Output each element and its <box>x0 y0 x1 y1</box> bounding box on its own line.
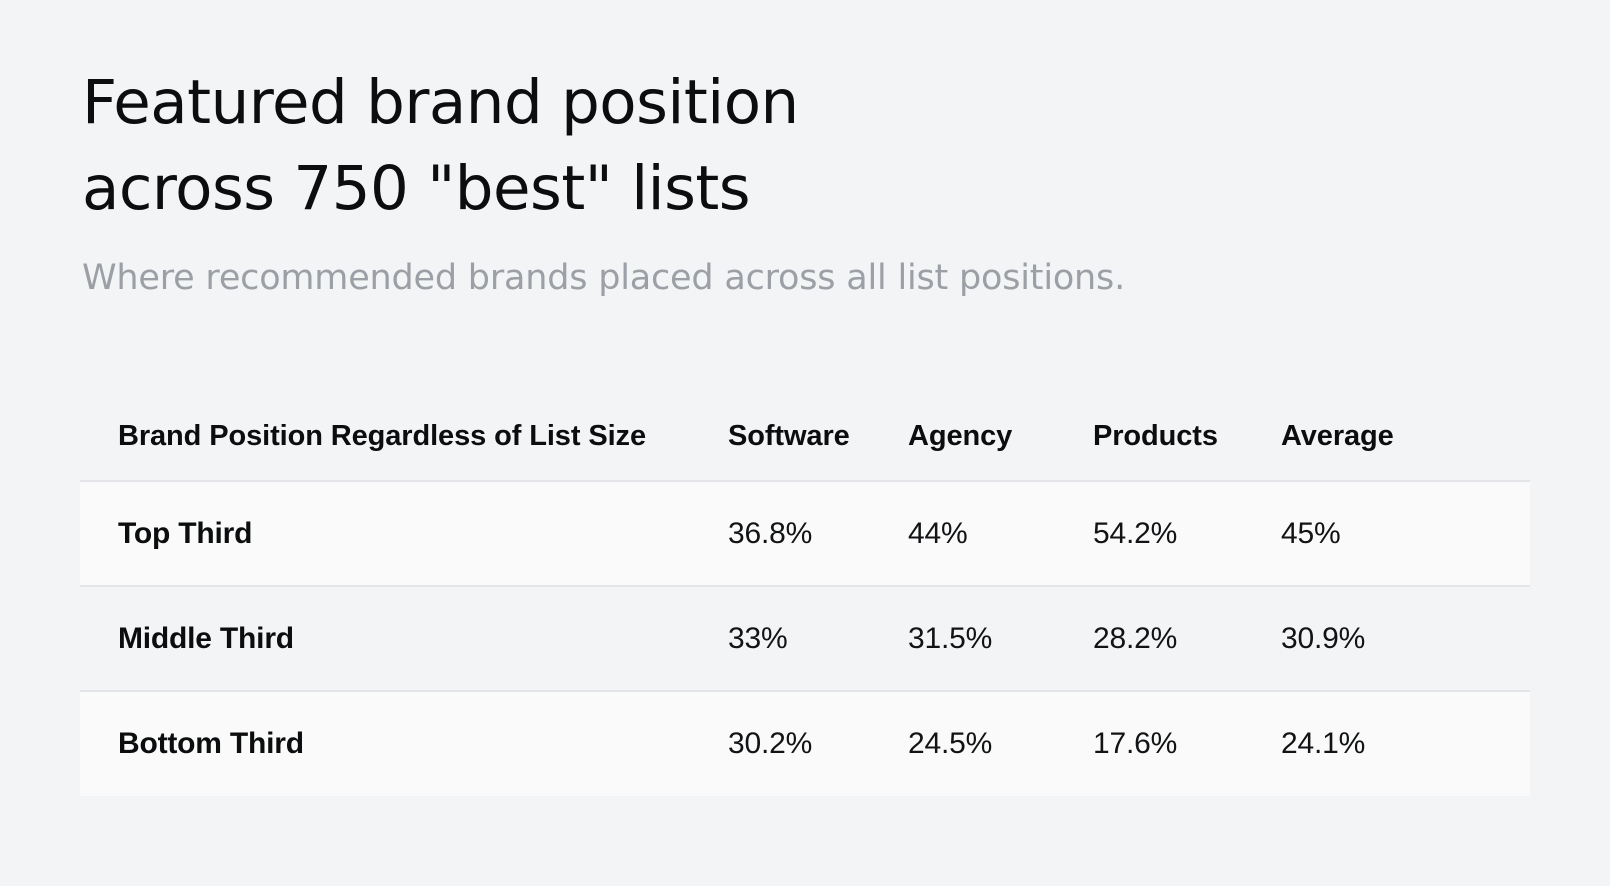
page-root: Featured brand position across 750 "best… <box>0 0 1610 886</box>
table-body: Top Third 36.8% 44% 54.2% 45% Middle Thi… <box>80 481 1530 796</box>
cell-top-third-average: 45% <box>1281 481 1530 586</box>
stats-table-container: Brand Position Regardless of List Size S… <box>80 392 1530 796</box>
row-label-bottom-third: Bottom Third <box>80 691 728 796</box>
cell-middle-third-products: 28.2% <box>1093 586 1281 691</box>
page-header: Featured brand position across 750 "best… <box>82 60 1542 300</box>
column-header-agency: Agency <box>908 392 1093 481</box>
table-header: Brand Position Regardless of List Size S… <box>80 392 1530 481</box>
brand-position-table: Brand Position Regardless of List Size S… <box>80 392 1530 796</box>
column-header-products: Products <box>1093 392 1281 481</box>
column-header-software: Software <box>728 392 908 481</box>
table-header-row: Brand Position Regardless of List Size S… <box>80 392 1530 481</box>
cell-bottom-third-average: 24.1% <box>1281 691 1530 796</box>
cell-top-third-software: 36.8% <box>728 481 908 586</box>
table-row: Middle Third 33% 31.5% 28.2% 30.9% <box>80 586 1530 691</box>
cell-top-third-agency: 44% <box>908 481 1093 586</box>
page-title: Featured brand position across 750 "best… <box>82 60 1542 232</box>
cell-bottom-third-agency: 24.5% <box>908 691 1093 796</box>
cell-bottom-third-software: 30.2% <box>728 691 908 796</box>
column-header-average: Average <box>1281 392 1530 481</box>
table-row: Top Third 36.8% 44% 54.2% 45% <box>80 481 1530 586</box>
cell-middle-third-software: 33% <box>728 586 908 691</box>
column-header-brand-position: Brand Position Regardless of List Size <box>80 392 728 481</box>
page-subtitle: Where recommended brands placed across a… <box>82 232 1542 300</box>
row-label-top-third: Top Third <box>80 481 728 586</box>
cell-top-third-products: 54.2% <box>1093 481 1281 586</box>
cell-bottom-third-products: 17.6% <box>1093 691 1281 796</box>
cell-middle-third-average: 30.9% <box>1281 586 1530 691</box>
table-row: Bottom Third 30.2% 24.5% 17.6% 24.1% <box>80 691 1530 796</box>
row-label-middle-third: Middle Third <box>80 586 728 691</box>
cell-middle-third-agency: 31.5% <box>908 586 1093 691</box>
